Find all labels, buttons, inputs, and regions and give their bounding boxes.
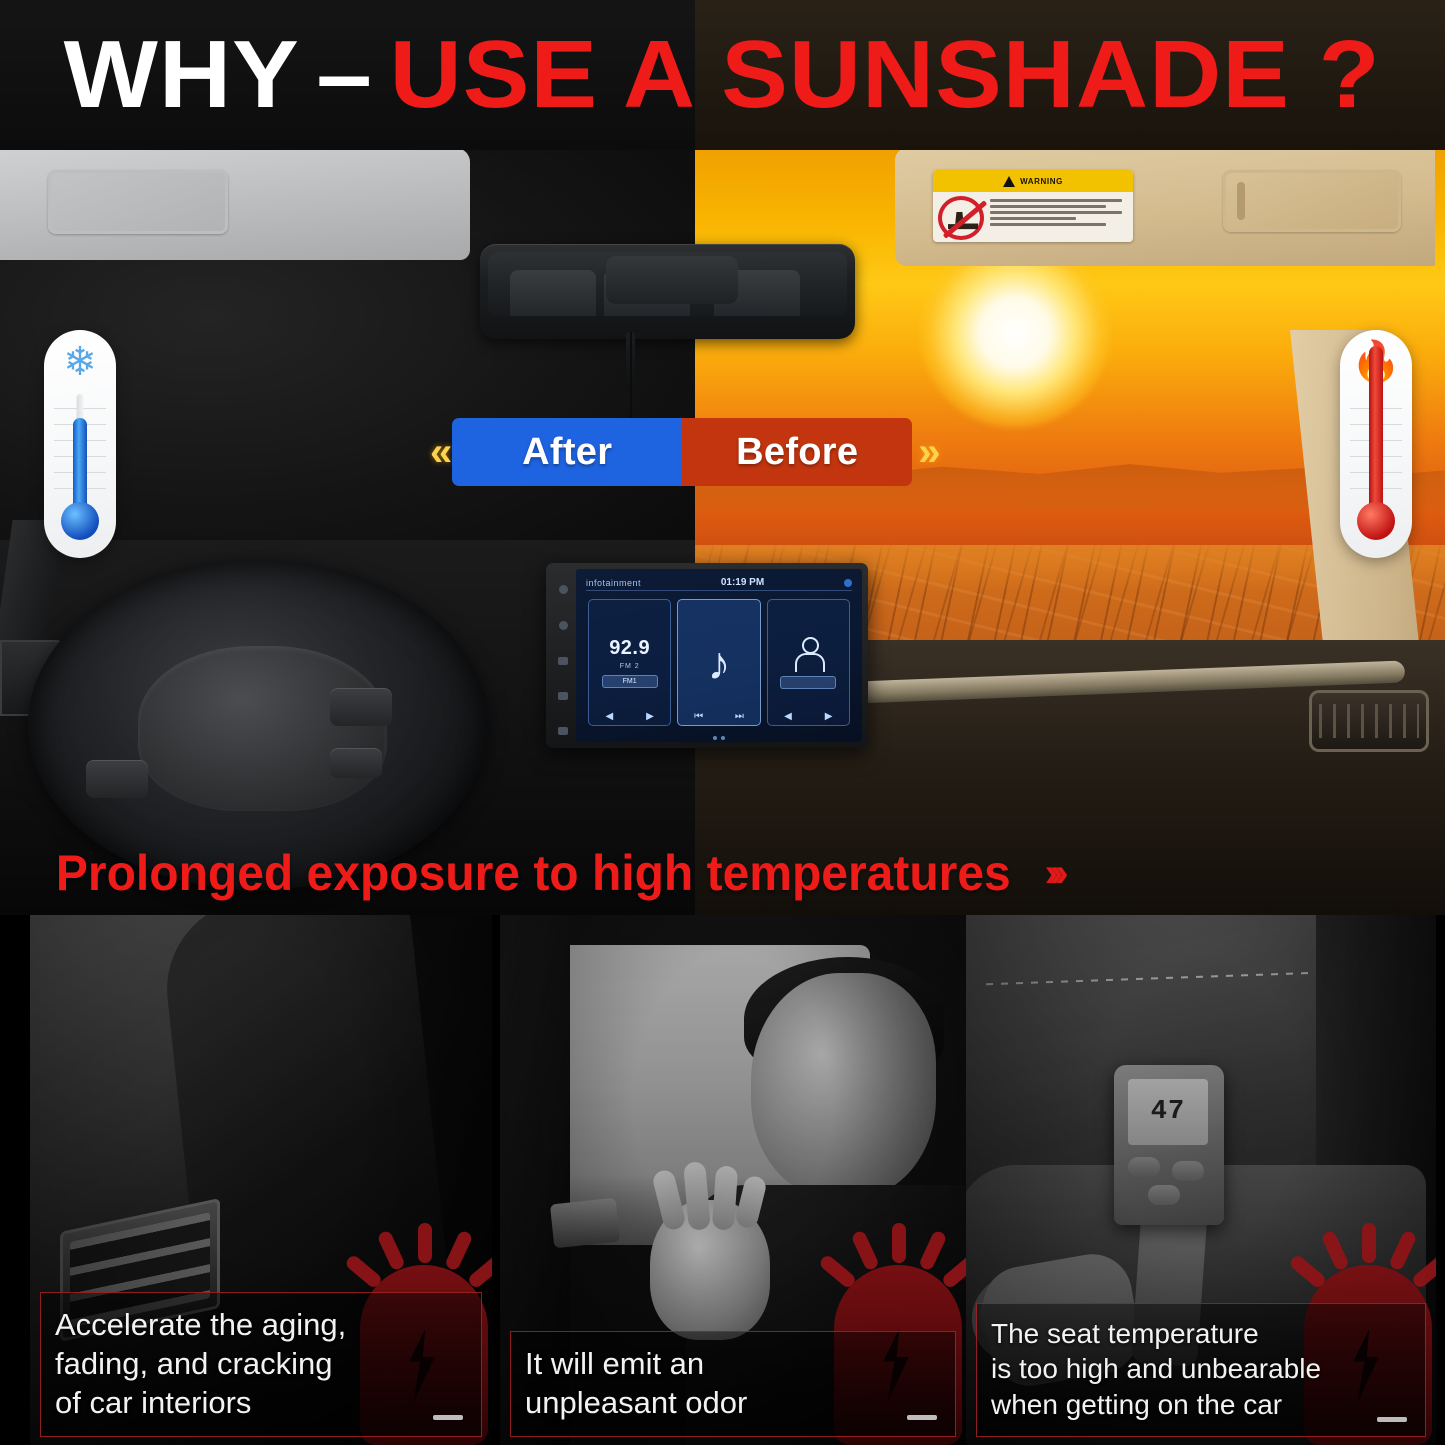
caption-underscore xyxy=(433,1415,463,1420)
steering-button-right xyxy=(330,688,392,726)
title-dash: – xyxy=(300,21,390,128)
infotainment-page-dots xyxy=(713,736,725,740)
bluetooth-status-icon xyxy=(844,579,852,587)
caption-underscore xyxy=(1377,1417,1407,1422)
panel-seat-temperature: 47 The seat temperature is too high and … xyxy=(966,915,1436,1445)
chevron-left-icon: « xyxy=(430,432,446,472)
after-badge: After xyxy=(452,418,682,486)
power-button-icon[interactable] xyxy=(559,585,568,594)
caption-underscore xyxy=(907,1415,937,1420)
radio-frequency-value: 92.9 xyxy=(609,637,650,660)
speaker-button-icon[interactable] xyxy=(558,657,568,665)
profile-prev[interactable]: ◀ xyxy=(784,711,792,722)
steering-button-left xyxy=(86,760,148,798)
before-badge: Before xyxy=(682,418,912,486)
media-card[interactable]: ♪ ⏮ ⏭ xyxy=(677,599,760,726)
panel-caption: The seat temperature is too high and unb… xyxy=(976,1303,1426,1437)
music-note-icon: ♪ xyxy=(707,640,730,686)
media-next-button[interactable]: ⏭ xyxy=(735,711,744,722)
cold-thermometer-bulb xyxy=(61,502,99,540)
title-word-highlight: USE A SUNSHADE ? xyxy=(390,21,1381,128)
sun-glow-icon xyxy=(920,238,1110,428)
cold-thermometer-fill xyxy=(73,418,87,514)
sun-visor-left xyxy=(0,148,470,260)
radio-preset-button[interactable]: FM1 xyxy=(602,675,658,688)
strapline-chevrons-icon: ››› xyxy=(1045,851,1061,896)
snowflake-icon: ❄ xyxy=(44,342,116,382)
warning-triangle-icon xyxy=(1003,176,1015,187)
profile-card[interactable]: ◀ ▶ xyxy=(767,599,850,726)
airbag-warning-label: WARNING xyxy=(933,170,1133,242)
warning-label-heading-row: WARNING xyxy=(933,170,1133,192)
profile-nav-controls[interactable]: ◀ ▶ xyxy=(768,711,849,722)
consequence-panels: Accelerate the aging, fading, and cracki… xyxy=(0,915,1445,1445)
sunshade-benefit-poster: WARNING xyxy=(0,0,1445,1445)
infotainment-card-row: 92.9 FM 2 FM1 ◀ ▶ ♪ ⏮ ⏭ xyxy=(588,599,850,726)
panel-caption-text: Accelerate the aging, fading, and cracki… xyxy=(55,1305,467,1422)
media-transport-controls[interactable]: ⏮ ⏭ xyxy=(678,711,759,722)
menu-button-icon[interactable] xyxy=(558,727,568,735)
hot-thermometer: 🔥 xyxy=(1340,330,1412,558)
steering-button-right-lower xyxy=(330,748,382,778)
infotainment-head-unit[interactable]: infotainment 01:19 PM 92.9 FM 2 FM1 ◀ ▶ xyxy=(546,563,868,748)
volume-knob-icon[interactable] xyxy=(559,621,568,630)
profile-select-button[interactable] xyxy=(780,676,836,689)
air-vent-right xyxy=(1309,690,1429,752)
radio-seek-controls[interactable]: ◀ ▶ xyxy=(589,711,670,722)
radio-band-label: FM 2 xyxy=(620,663,640,670)
radio-seek-prev[interactable]: ◀ xyxy=(605,711,613,722)
home-button-icon[interactable] xyxy=(558,692,568,700)
strapline-band: Prolonged exposure to high temperatures … xyxy=(0,832,1445,914)
headline-band: WHY–USE A SUNSHADE ? xyxy=(0,0,1445,150)
cold-thermometer: ❄ xyxy=(44,330,116,558)
warning-label-heading: WARNING xyxy=(1020,177,1063,186)
chevron-right-icon: » xyxy=(918,432,934,472)
panel-interior-aging: Accelerate the aging, fading, and cracki… xyxy=(30,915,492,1445)
hot-thermometer-bulb xyxy=(1357,502,1395,540)
rear-seat-left xyxy=(510,270,596,316)
title-word-why: WHY xyxy=(64,21,300,128)
infotainment-screen[interactable]: infotainment 01:19 PM 92.9 FM 2 FM1 ◀ ▶ xyxy=(576,569,862,742)
infotainment-brand-label: infotainment xyxy=(586,578,641,588)
no-rear-facing-child-seat-icon xyxy=(938,196,984,240)
media-prev-button[interactable]: ⏮ xyxy=(694,711,703,722)
rearview-mirror xyxy=(480,244,855,339)
driver-profile-icon xyxy=(793,637,823,671)
sun-visor-right: WARNING xyxy=(895,148,1435,266)
radio-seek-next[interactable]: ▶ xyxy=(646,711,654,722)
rearview-mirror-glass xyxy=(488,252,847,316)
panel-caption-text: The seat temperature is too high and unb… xyxy=(991,1316,1411,1422)
panel-caption-text: It will emit an unpleasant odor xyxy=(525,1344,941,1422)
hero-comparison-image: WARNING xyxy=(0,0,1445,915)
profile-next[interactable]: ▶ xyxy=(825,711,833,722)
infotainment-clock: 01:19 PM xyxy=(721,577,764,588)
radio-card[interactable]: 92.9 FM 2 FM1 ◀ ▶ xyxy=(588,599,671,726)
strapline-text: Prolonged exposure to high temperatures xyxy=(56,844,1011,902)
vanity-mirror-cover xyxy=(1223,170,1401,232)
panel-caption: Accelerate the aging, fading, and cracki… xyxy=(40,1292,482,1437)
warning-label-text-lines xyxy=(990,196,1128,240)
panel-unpleasant-odor: It will emit an unpleasant odor xyxy=(500,915,966,1445)
infotainment-status-bar: infotainment 01:19 PM xyxy=(586,575,852,591)
page-title: WHY–USE A SUNSHADE ? xyxy=(64,27,1381,123)
panel-caption: It will emit an unpleasant odor xyxy=(510,1331,956,1437)
rear-headrest xyxy=(606,256,738,304)
hot-thermometer-fill xyxy=(1369,346,1383,514)
before-after-badge-row: « After Before » xyxy=(430,418,935,486)
infotainment-side-buttons[interactable] xyxy=(554,585,572,735)
warning-label-body xyxy=(933,192,1133,242)
